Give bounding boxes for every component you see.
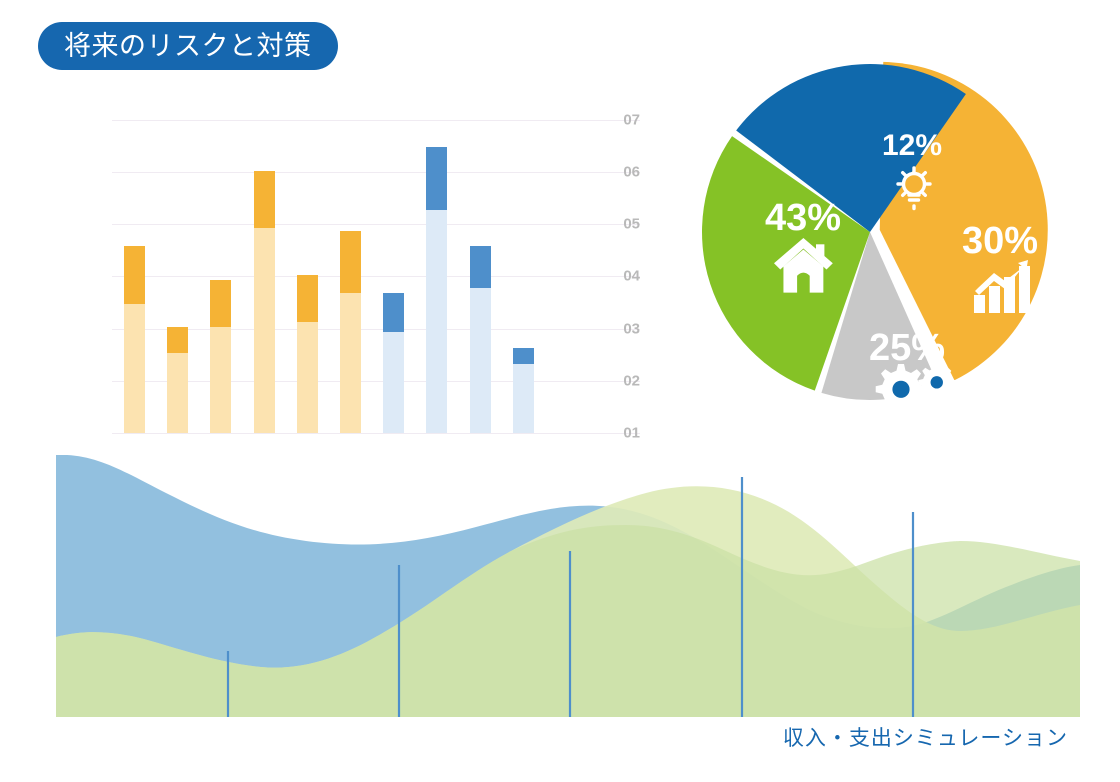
bar-segment-base [297, 322, 318, 433]
bar-segment-top [210, 280, 231, 327]
bar-segment-top [340, 231, 361, 294]
bar-column [210, 83, 231, 433]
bar-column [513, 83, 534, 433]
bar-segment-top [297, 275, 318, 322]
bar-column [297, 83, 318, 433]
bar-column [426, 83, 447, 433]
bar-segment-top [124, 246, 145, 303]
bar-column [340, 83, 361, 433]
gears-icon [876, 364, 955, 415]
area-svg [56, 455, 1080, 717]
infographic-page: 将来のリスクと対策 01020304050607 43% 12% [0, 0, 1120, 782]
bar-segment-top [513, 348, 534, 364]
bar-segment-base [513, 364, 534, 433]
bar-segment-base [470, 288, 491, 433]
allocation-pie-chart: 43% 12% 30% 25% [670, 32, 1070, 432]
bar-segment-top [383, 293, 404, 332]
pie-label-43: 43% [765, 197, 841, 239]
bar-segment-base [426, 210, 447, 433]
income-expense-area-chart [56, 455, 1080, 717]
bar-column [383, 83, 404, 433]
bar-segment-base [383, 332, 404, 433]
bar-segment-base [167, 353, 188, 433]
bar-segment-base [210, 327, 231, 433]
bar-segment-top [426, 147, 447, 210]
bar-segment-top [167, 327, 188, 353]
bar-chart-bars [112, 100, 640, 450]
pie-label-12: 12% [882, 129, 942, 162]
bar-column [470, 83, 491, 433]
page-title-badge: 将来のリスクと対策 [38, 22, 338, 70]
bar-segment-base [340, 293, 361, 433]
pie-label-30: 30% [962, 220, 1038, 262]
bar-column [254, 83, 275, 433]
pie-label-25: 25% [869, 327, 945, 369]
pie-svg: 43% 12% 30% 25% [670, 32, 1070, 432]
chart-caption: 収入・支出シミュレーション [783, 728, 1068, 749]
bar-column [124, 83, 145, 433]
page-title: 将来のリスクと対策 [64, 33, 312, 60]
bar-segment-top [254, 171, 275, 228]
bar-segment-base [254, 228, 275, 433]
bar-column [167, 83, 188, 433]
stacked-bar-chart: 01020304050607 [40, 100, 640, 450]
bar-segment-top [470, 246, 491, 288]
bar-segment-base [124, 304, 145, 433]
